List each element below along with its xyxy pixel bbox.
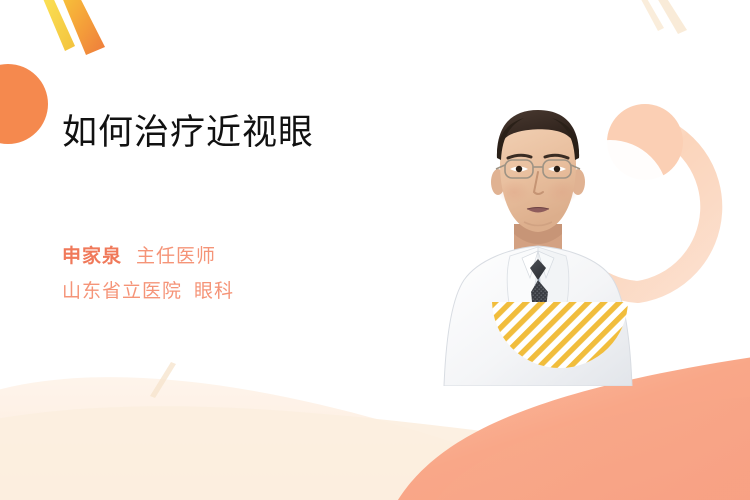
doctor-credits: 申家泉主任医师 山东省立医院眼科: [62, 240, 442, 310]
bottom-cream-wave-2: [0, 406, 750, 500]
text-content: 如何治疗近视眼 申家泉主任医师 山东省立医院眼科: [62, 110, 442, 310]
pupil-left: [516, 166, 522, 172]
pupil-right: [554, 166, 560, 172]
top-left-stripes-icon: [36, 0, 105, 55]
doctor-portrait: [438, 96, 648, 386]
presentation-slide: 如何治疗近视眼 申家泉主任医师 山东省立医院眼科: [0, 0, 750, 500]
doctor-hospital: 山东省立医院: [62, 281, 182, 302]
bottom-salmon-wave-2: [430, 396, 750, 500]
doctor-department: 眼科: [194, 281, 234, 302]
doctor-credit-line-1: 申家泉主任医师: [62, 240, 442, 275]
doctor-professional-title: 主任医师: [136, 246, 216, 267]
page-title: 如何治疗近视眼: [62, 110, 442, 156]
doctor-name: 申家泉: [62, 246, 122, 267]
bottom-cream-wave: [0, 377, 470, 500]
small-stripe-icon: [150, 362, 176, 398]
orange-circle-decoration: [0, 64, 48, 144]
doctor-credit-line-2: 山东省立医院眼科: [62, 275, 442, 310]
top-right-stripes-icon: [636, 0, 687, 34]
cheek-right: [546, 180, 578, 204]
cheek-left: [498, 180, 530, 204]
